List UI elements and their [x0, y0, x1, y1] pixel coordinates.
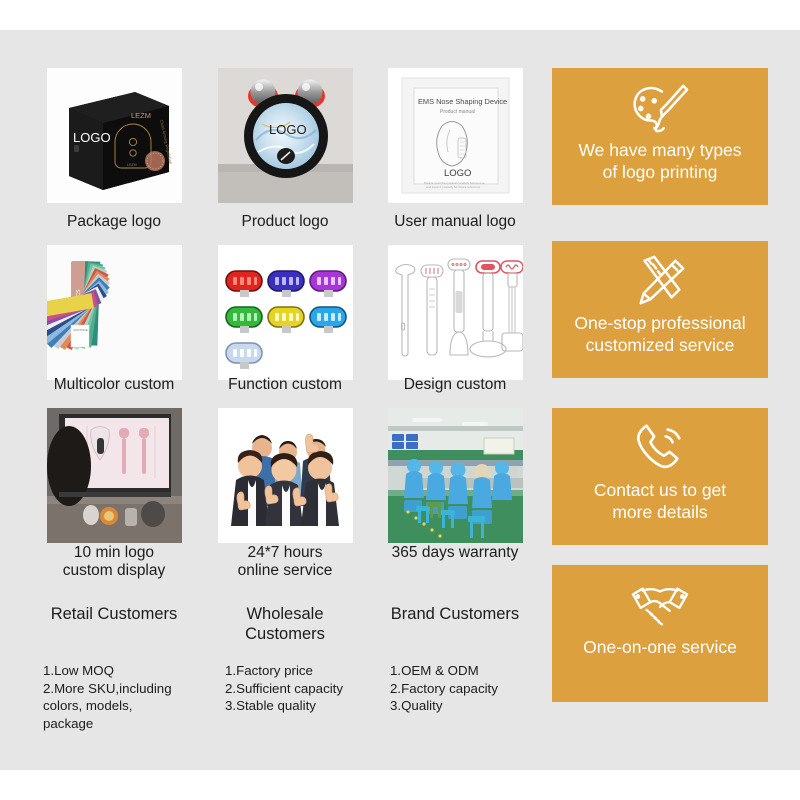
caption-logo-custom-display: 10 min logo custom display	[34, 544, 194, 581]
panel-customized-service[interactable]: One-stop professional customized service	[552, 241, 768, 378]
caption-design-custom: Design custom	[375, 376, 535, 394]
panel-text-customized-service: One-stop professional customized service	[568, 313, 751, 357]
list-item: 3.Quality	[390, 697, 565, 715]
thumbnail-multicolor-custom: METALLICS	[47, 245, 182, 380]
list-item: 1.Low MOQ	[43, 662, 218, 680]
user-manual-photo: EMS Nose Shaping Device Product manual L…	[388, 68, 523, 203]
panel-contact-us[interactable]: Contact us to get more details	[552, 408, 768, 545]
panel-logo-printing[interactable]: We have many types of logo printing	[552, 68, 768, 205]
thumbnail-warranty	[388, 408, 523, 543]
svg-text:and keep it properly for futur: and keep it properly for future referenc…	[426, 185, 481, 189]
svg-text:LOGO: LOGO	[73, 130, 111, 145]
palette-brush-icon	[629, 80, 691, 136]
caption-multicolor-custom: Multicolor custom	[34, 376, 194, 394]
pencil-ruler-icon	[629, 253, 691, 309]
segment-title-wholesale: Wholesale Customers	[200, 605, 370, 645]
panel-text-contact-us: Contact us to get more details	[588, 480, 732, 524]
segment-title-brand: Brand Customers	[370, 605, 540, 625]
panel-text-one-on-one-service: One-on-one service	[577, 637, 743, 659]
svg-text:LEZM: LEZM	[127, 163, 137, 167]
caption-warranty: 365 days warranty	[375, 544, 535, 562]
segment-list-brand: 1.OEM & ODM 2.Factory capacity 3.Quality	[390, 662, 565, 715]
panel-text-logo-printing: We have many types of logo printing	[572, 140, 747, 184]
list-item: 1.OEM & ODM	[390, 662, 565, 680]
thumbnail-online-service	[218, 408, 353, 543]
thumbnail-product-logo: LOGO	[218, 68, 353, 203]
svg-text:LEZM: LEZM	[131, 111, 151, 120]
team-thumbsup-photo	[218, 408, 353, 543]
svg-text:LOGO: LOGO	[444, 168, 471, 179]
list-item: 1.Factory price	[225, 662, 400, 680]
segment-title-retail: Retail Customers	[29, 605, 199, 625]
led-modules-photo	[218, 245, 353, 380]
list-item: 3.Stable quality	[225, 697, 400, 715]
package-box-photo: LOGO LEZM Chad Arming Regulation LEZM	[47, 68, 182, 203]
pantone-fandeck-photo: METALLICS	[47, 245, 182, 380]
device-outlines-photo	[388, 245, 523, 380]
panel-one-on-one-service[interactable]: One-on-one service	[552, 565, 768, 702]
caption-online-service: 24*7 hours online service	[205, 544, 365, 581]
screen-display-photo	[47, 408, 182, 543]
caption-function-custom: Function custom	[205, 376, 365, 394]
thumbnail-function-custom	[218, 245, 353, 380]
list-item: 2.More SKU,including colors, models, pac…	[43, 680, 218, 733]
thumbnail-user-manual-logo: EMS Nose Shaping Device Product manual L…	[388, 68, 523, 203]
caption-product-logo: Product logo	[205, 213, 365, 231]
thumbnail-logo-custom-display	[47, 408, 182, 543]
segment-list-wholesale: 1.Factory price 2.Sufficient capacity 3.…	[225, 662, 400, 715]
svg-text:LOGO: LOGO	[269, 122, 307, 137]
caption-user-manual-logo: User manual logo	[375, 213, 535, 231]
list-item: 2.Sufficient capacity	[225, 680, 400, 698]
product-customization-infographic: LOGO LEZM Chad Arming Regulation LEZM Pa…	[0, 0, 800, 800]
list-item: 2.Factory capacity	[390, 680, 565, 698]
factory-line-photo	[388, 408, 523, 543]
caption-package-logo: Package logo	[34, 213, 194, 231]
handshake-icon	[629, 577, 691, 633]
svg-text:PANTONE: PANTONE	[74, 328, 88, 332]
thumbnail-design-custom	[388, 245, 523, 380]
phone-call-icon	[629, 420, 691, 476]
svg-text:Product manual: Product manual	[440, 109, 475, 115]
svg-text:EMS Nose Shaping Device: EMS Nose Shaping Device	[418, 97, 507, 106]
thumbnail-package-logo: LOGO LEZM Chad Arming Regulation LEZM	[47, 68, 182, 203]
segment-list-retail: 1.Low MOQ 2.More SKU,including colors, m…	[43, 662, 218, 733]
round-device-photo: LOGO	[218, 68, 353, 203]
